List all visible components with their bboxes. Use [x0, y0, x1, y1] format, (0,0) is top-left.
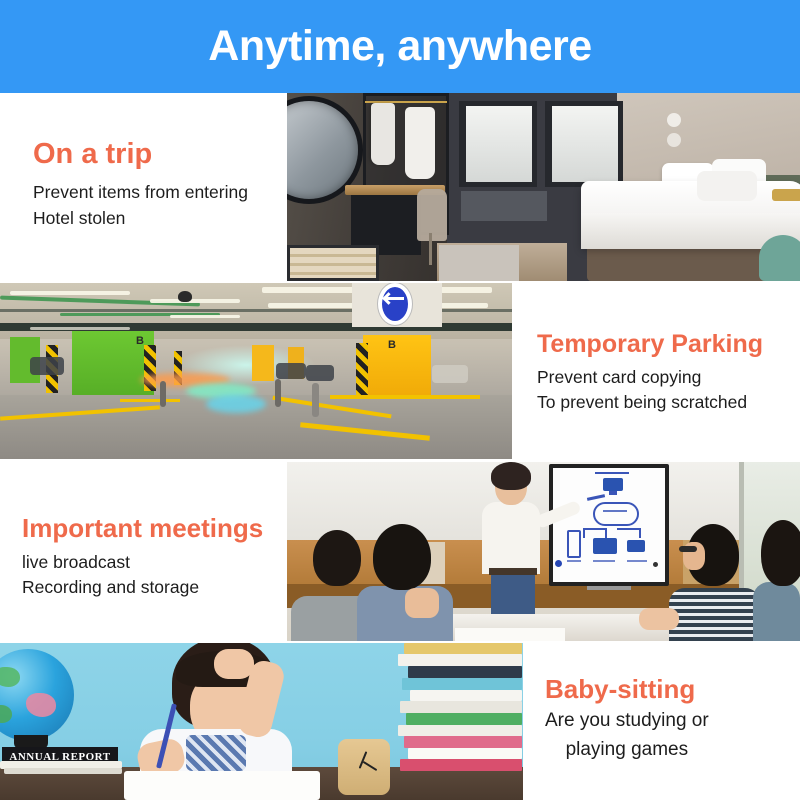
section-line: playing games	[545, 736, 709, 765]
wall-light-icon	[667, 113, 681, 127]
section-line: live broadcast	[22, 550, 263, 575]
light-trail	[206, 395, 266, 413]
whiteboard-magnet	[653, 562, 658, 567]
luggage-bench	[287, 245, 379, 281]
attendee-torso	[669, 588, 761, 641]
page-title: Anytime, anywhere	[208, 25, 591, 68]
section-line: Hotel stolen	[33, 206, 248, 231]
hotel-window	[459, 101, 537, 187]
nightstand	[759, 235, 800, 281]
attendee-head	[761, 520, 800, 586]
child-tie	[186, 735, 246, 771]
garage-pillar-yellow	[252, 345, 274, 381]
whiteboard	[549, 464, 669, 586]
section-line: Prevent items from entering	[33, 180, 248, 205]
section-line: Recording and storage	[22, 575, 263, 600]
section-line: To prevent being scratched	[537, 390, 763, 415]
ceiling-light	[10, 291, 130, 295]
hotel-window	[545, 101, 623, 187]
parked-car	[30, 357, 64, 375]
desk-clock-icon	[338, 739, 390, 795]
floor-lane-line	[120, 399, 180, 402]
hazard-stripe	[356, 343, 368, 397]
attendee-head	[313, 530, 361, 586]
hotel-radiator	[461, 191, 547, 221]
ceiling-light	[30, 327, 130, 330]
bathrobe	[405, 107, 435, 179]
direction-sign-icon	[378, 283, 412, 325]
bollard	[275, 379, 281, 407]
bollard	[160, 381, 166, 407]
book-stack	[398, 643, 523, 773]
garage-pillar-yellow: B	[363, 335, 431, 399]
presenter-hair	[491, 462, 531, 490]
attendee-head	[373, 524, 431, 590]
section-heading-on-a-trip: On a trip	[33, 138, 248, 170]
bathrobe	[371, 103, 395, 165]
ceiling-light	[150, 299, 240, 303]
section-line: Are you studying or	[545, 707, 709, 736]
meeting-room-photo	[287, 462, 800, 641]
bollard	[312, 383, 319, 417]
globe-icon	[0, 649, 74, 741]
bedside-lamp	[772, 189, 800, 201]
parked-car	[432, 365, 468, 383]
attendee-hand	[405, 588, 439, 618]
section-heading-temporary-parking: Temporary Parking	[537, 330, 763, 358]
hotel-chair-leg	[429, 233, 432, 265]
child-studying-photo: ANNUAL REPORT	[0, 643, 523, 800]
section-text-baby-sitting: Baby-sitting Are you studying or playing…	[545, 675, 709, 764]
parked-car	[276, 363, 306, 379]
notebook	[124, 771, 320, 800]
whiteboard-magnet	[555, 560, 562, 567]
floor-lane-line	[330, 395, 480, 399]
section-text-important-meetings: Important meetings live broadcast Record…	[22, 514, 263, 601]
section-text-temporary-parking: Temporary Parking Prevent card copying T…	[537, 330, 763, 416]
eyeglasses-icon	[679, 546, 697, 552]
book	[4, 768, 122, 774]
hotel-room-photo	[287, 93, 800, 281]
promo-page: Anytime, anywhere	[0, 0, 800, 800]
garage-pillar-green: B	[72, 331, 154, 399]
section-text-on-a-trip: On a trip Prevent items from entering Ho…	[33, 138, 248, 231]
presenter-belt	[489, 568, 537, 575]
attendee-torso	[753, 582, 800, 641]
presenter-torso	[482, 502, 540, 574]
hotel-chair	[417, 189, 447, 241]
hotel-rug	[439, 245, 519, 281]
meeting-papers	[455, 628, 565, 641]
parking-garage-photo: B B	[0, 283, 512, 459]
parked-car	[306, 365, 334, 381]
child-hand	[214, 649, 254, 679]
hero-banner: Anytime, anywhere	[0, 0, 800, 93]
ceiling-light	[170, 315, 240, 318]
security-camera-icon	[178, 291, 192, 302]
section-line: Prevent card copying	[537, 365, 763, 390]
attendee-hand	[639, 608, 679, 630]
pillow	[697, 171, 757, 201]
whiteboard-stand	[587, 586, 631, 590]
section-heading-important-meetings: Important meetings	[22, 514, 263, 543]
section-heading-baby-sitting: Baby-sitting	[545, 675, 709, 704]
wall-light-icon	[667, 133, 681, 147]
